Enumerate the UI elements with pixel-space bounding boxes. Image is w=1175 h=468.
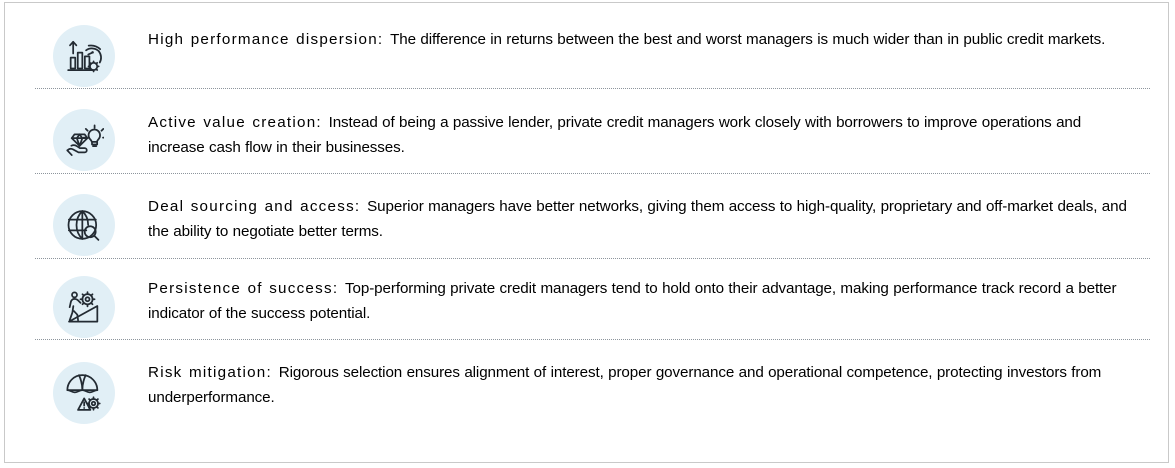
list-item: High performance dispersion: The differe… — [5, 3, 1168, 89]
globe-magnifier-icon — [53, 194, 115, 256]
list-item: Deal sourcing and access: Superior manag… — [5, 173, 1168, 258]
umbrella-warning-gear-icon — [53, 362, 115, 424]
list-item-body: The difference in returns between the be… — [390, 31, 1105, 48]
list-item-text: Deal sourcing and access: Superior manag… — [148, 194, 1168, 244]
person-pushing-gear-uphill-icon — [53, 276, 115, 338]
list-item: Risk mitigation: Rigorous selection ensu… — [5, 339, 1168, 429]
hand-diamond-lightbulb-icon — [53, 109, 115, 171]
list-item-heading: High performance dispersion: — [148, 31, 383, 48]
list-item-text: Persistence of success: Top-performing p… — [148, 276, 1168, 326]
list-item-heading: Active value creation: — [148, 114, 322, 131]
list-item-heading: Risk mitigation: — [148, 364, 272, 381]
list-item: Active value creation: Instead of being … — [5, 89, 1168, 173]
list-item-heading: Deal sourcing and access: — [148, 198, 360, 215]
heading-body-gap — [272, 364, 279, 381]
list-item-text: High performance dispersion: The differe… — [148, 27, 1168, 52]
key-points-list: High performance dispersion: The differe… — [5, 3, 1168, 429]
heading-body-gap — [322, 114, 329, 131]
list-item-heading: Persistence of success: — [148, 280, 338, 297]
list-item: Persistence of success: Top-performing p… — [5, 258, 1168, 339]
list-item-text: Active value creation: Instead of being … — [148, 110, 1168, 160]
bar-chart-arrow-gauge-gear-icon — [53, 25, 115, 87]
list-item-text: Risk mitigation: Rigorous selection ensu… — [148, 360, 1168, 410]
list-item-body: Rigorous selection ensures alignment of … — [148, 364, 1101, 406]
key-points-card: High performance dispersion: The differe… — [4, 2, 1169, 463]
